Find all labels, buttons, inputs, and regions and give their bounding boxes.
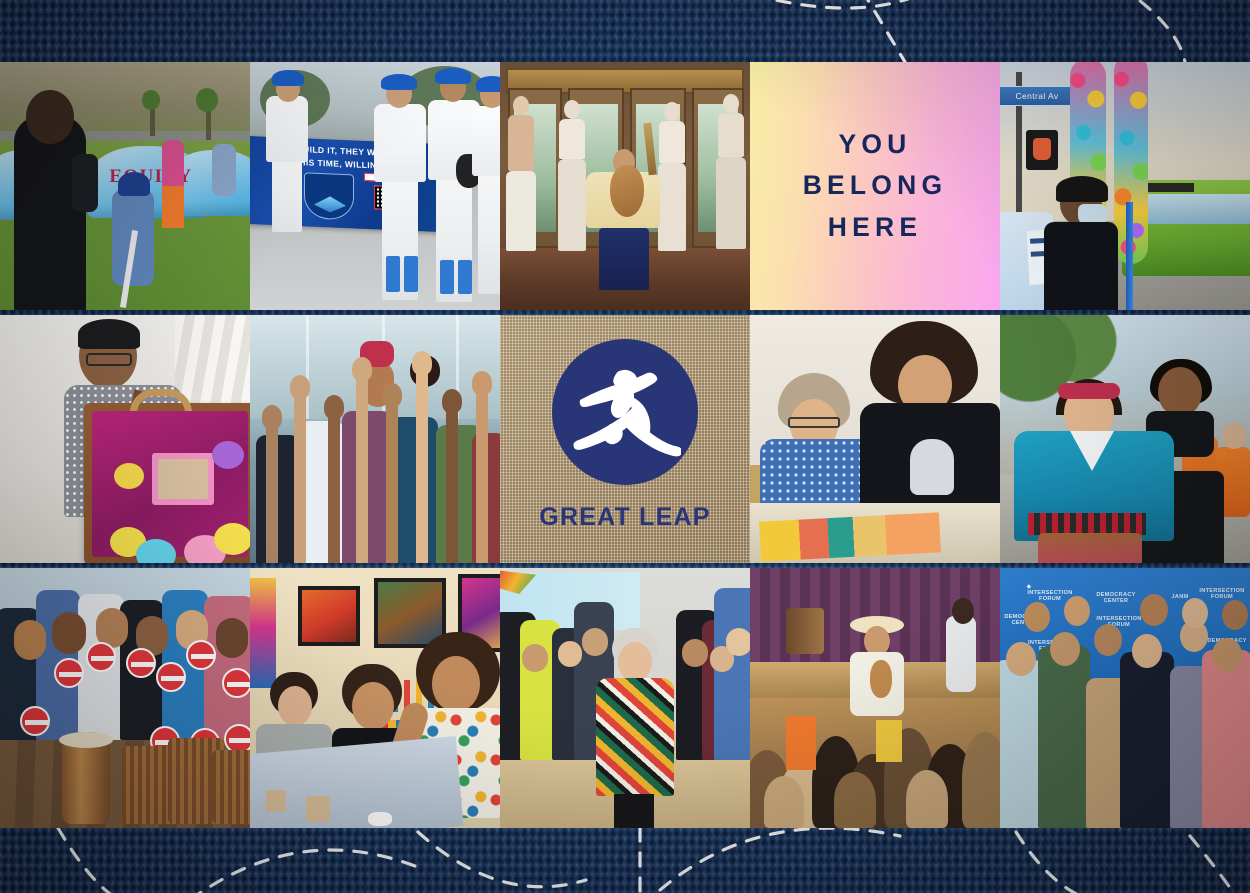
great-leap-wordmark: GREAT LEAP <box>539 503 710 532</box>
collage-canvas: EQUITY Children playing baseball on a gr… <box>0 0 1250 893</box>
belong-line-3: HERE <box>803 207 948 248</box>
tile-gallery-movement-session[interactable]: Elder in a striped coat leading a moveme… <box>500 568 750 828</box>
street-sign-text: Central Av <box>1000 86 1080 106</box>
tile-intergenerational-art[interactable]: Teen volunteer and an elder making a col… <box>750 315 1000 563</box>
tile-school-assembly[interactable]: Musician in a straw hat performing for s… <box>750 568 1000 828</box>
tile-temple-performance[interactable]: Biwa player and white-clad butoh dancers… <box>500 62 750 310</box>
you-belong-here-text: YOU BELONG HERE <box>803 124 948 248</box>
tile-street-festival-dance[interactable]: Dancers in blue kimono and festival happ… <box>1000 315 1250 563</box>
equity-tent-text: EQUITY <box>96 166 206 188</box>
tile-you-belong-here[interactable]: YOU BELONG HERE <box>750 62 1000 310</box>
tile-baseball-banner[interactable]: IF WE BUILD IT, THEY WILL COME. THIS TIM… <box>250 62 500 310</box>
tile-forum-group-photo[interactable]: ◆ INTERSECTIONFORUM DEMOCRACYCENTER JANM… <box>1000 568 1250 828</box>
photo-grid: EQUITY Children playing baseball on a gr… <box>0 62 1250 828</box>
tile-equity-ball-field[interactable]: EQUITY Children playing baseball on a gr… <box>0 62 250 310</box>
tile-studio-conversation[interactable]: Three women talking around a worktable i… <box>250 568 500 828</box>
tile-drum-circle-group[interactable]: Group portrait holding red fans behind d… <box>0 568 250 828</box>
tile-great-leap-logo[interactable]: GREAT LEAP <box>500 315 750 563</box>
belong-line-2: BELONG <box>803 165 948 206</box>
tile-street-yarn-pole[interactable]: Central Av Masked person in black holdin… <box>1000 62 1250 310</box>
belong-line-1: YOU <box>803 124 948 165</box>
tile-suitcase-artwork[interactable]: Artist in a cap presenting a suitcase as… <box>0 315 250 563</box>
banner-logo-2: DEMOCRACYCENTER <box>1088 592 1144 605</box>
tile-hands-raised-crowd[interactable]: Crowd of participants with both hands ra… <box>250 315 500 563</box>
great-leap-logo-mark <box>552 339 698 485</box>
